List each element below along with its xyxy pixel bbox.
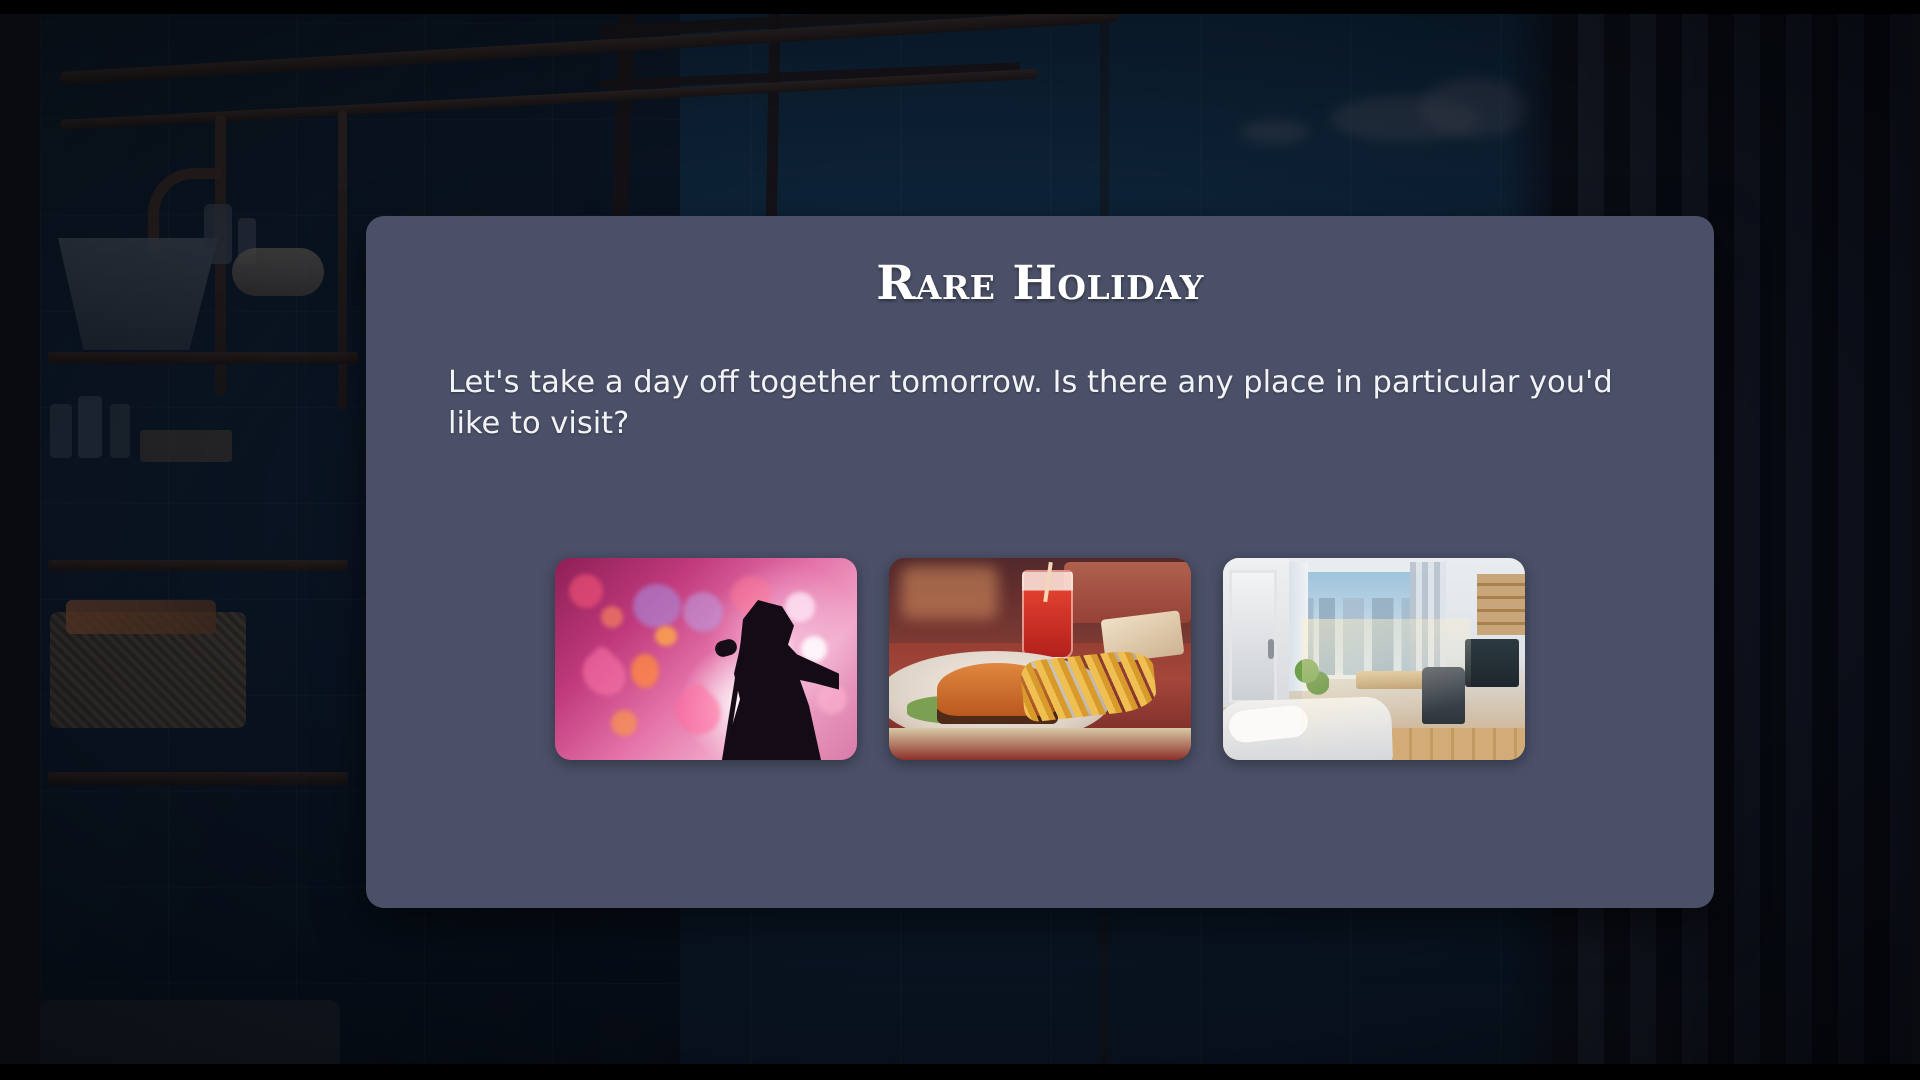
french-fries <box>1019 648 1157 722</box>
choice-card-karaoke[interactable]: Singer silhouette on a pink bokeh-lit st… <box>555 558 857 760</box>
choice-card-home[interactable]: Bright apartment bedroom with a city-vie… <box>1223 558 1525 760</box>
karaoke-stage-silhouette-image <box>555 558 857 760</box>
letterbox-right <box>1912 0 1920 1080</box>
sunny-bedroom-apartment-image <box>1223 558 1525 760</box>
choice-row: Singer silhouette on a pink bokeh-lit st… <box>366 558 1714 760</box>
bookshelf <box>1477 574 1525 635</box>
game-stage: Rare Holiday Let's take a day off togeth… <box>0 0 1920 1080</box>
restaurant-food-image <box>889 558 1191 760</box>
event-title: Rare Holiday <box>366 256 1714 311</box>
event-description-text: Let's take a day off together tomorrow. … <box>448 363 1632 444</box>
letterbox-bottom <box>0 1064 1920 1080</box>
letterbox-left <box>0 0 40 1080</box>
monitor <box>1465 639 1519 687</box>
microphone-icon <box>713 637 739 658</box>
event-panel: Rare Holiday Let's take a day off togeth… <box>366 216 1714 908</box>
choice-card-restaurant[interactable]: Burger with fries, fried chicken and red… <box>889 558 1191 760</box>
room-door <box>1229 570 1277 703</box>
letterbox-top <box>0 0 1920 14</box>
